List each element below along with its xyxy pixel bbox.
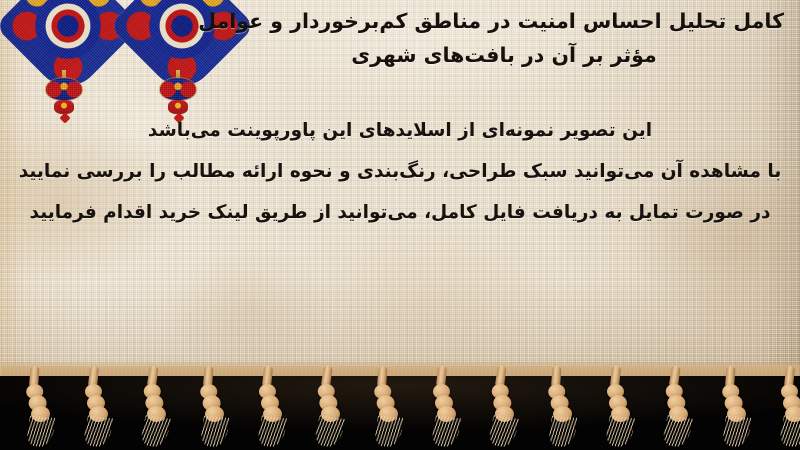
slide-title: کامل تحلیل احساس امنیت در مناطق کم‌برخور… [224, 4, 784, 72]
carpet-fringe [0, 376, 800, 450]
fringe-tassel [481, 375, 528, 450]
fringe-tassel [250, 376, 294, 450]
slide-title-line-2: مؤثر بر آن در بافت‌های شهری [224, 38, 784, 72]
fringe-tassel [17, 375, 64, 450]
tassel-skirt [546, 416, 578, 448]
slide-body: این تصویر نمونه‌ای از اسلایدهای این پاور… [18, 110, 782, 233]
fringe-tassel [713, 375, 760, 450]
fringe-tassel [76, 376, 120, 450]
fringe-tassel [539, 375, 586, 450]
fringe-tassel [307, 375, 354, 450]
fringe-tassel [191, 375, 238, 450]
tassel-skirt [255, 415, 288, 448]
tassel-skirt [603, 415, 636, 448]
tassel-skirt [372, 416, 404, 448]
slide-body-line-2: با مشاهده آن می‌توانید سبک طراحی، رنگ‌بن… [18, 151, 782, 192]
fringe-tassel [424, 376, 468, 450]
tassel-skirt [138, 415, 171, 448]
fringe-tassel [598, 376, 642, 450]
tassel-skirt [486, 415, 519, 448]
text-layer: کامل تحلیل احساس امنیت در مناطق کم‌برخور… [0, 0, 800, 378]
fringe-tassel [365, 375, 412, 450]
tassel-skirt [429, 415, 462, 448]
tassel-skirt [720, 416, 752, 448]
slide-body-line-3: در صورت تمایل به دریافت فایل کامل، می‌تو… [18, 192, 782, 233]
presentation-slide: کامل تحلیل احساس امنیت در مناطق کم‌برخور… [0, 0, 800, 450]
tassel-skirt [81, 415, 114, 448]
tassel-skirt [660, 415, 693, 448]
fringe-tassel [655, 375, 702, 450]
tassel-skirt [312, 415, 345, 448]
tassel-skirt [198, 416, 230, 448]
slide-title-line-1: کامل تحلیل احساس امنیت در مناطق کم‌برخور… [224, 4, 784, 38]
fringe-tassel [133, 375, 180, 450]
tassel-skirt [777, 415, 800, 448]
fringe-tassel [772, 376, 800, 450]
tassel-skirt [24, 416, 56, 448]
slide-body-line-1: این تصویر نمونه‌ای از اسلایدهای این پاور… [18, 110, 782, 151]
